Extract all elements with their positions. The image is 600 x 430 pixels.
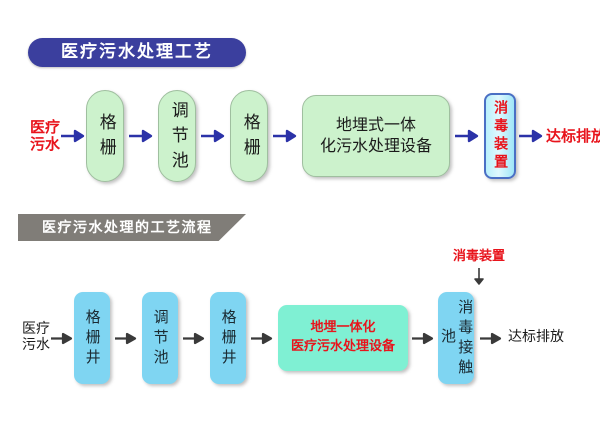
flow1-end-label-text: 达标排放 — [546, 128, 600, 145]
flow2-node-equalization-tank[interactable]: 调节池 — [142, 292, 178, 384]
flow2-node-equalization-tank-label: 调节池 — [151, 307, 168, 369]
flow1-node-disinfection-device-label: 消毒装置 — [492, 100, 508, 172]
section1-banner-title: 医疗污水处理工艺 — [61, 44, 213, 61]
flow1-node-grille-1-label: 格栅 — [95, 109, 115, 163]
section2-flow: 医疗 污水 格栅井 调节池 格栅井 地埋一体化 医疗污水处理设备 — [22, 288, 564, 388]
flow1-start-line2: 污水 — [30, 136, 60, 153]
section2-annotation-label: 消毒装置 — [453, 250, 505, 263]
flow1-node-buried-equipment-label: 地埋式一体 化污水处理设备 — [320, 115, 432, 157]
flow2-node-grille-well-1[interactable]: 格栅井 — [74, 292, 110, 384]
flow1-arrow-2 — [124, 129, 158, 143]
flow2-node-disinfection-contact-tank-label: 消毒接触池 — [439, 292, 474, 384]
flow2-node-buried-equipment[interactable]: 地埋一体化 医疗污水处理设备 — [278, 305, 408, 371]
flow2-node-grille-well-2-label: 格栅井 — [219, 307, 236, 369]
flow1-start-label: 医疗 污水 — [30, 119, 60, 153]
flow1-node-buried-equipment[interactable]: 地埋式一体 化污水处理设备 — [302, 95, 450, 177]
flow2-arrow-4 — [246, 332, 278, 345]
flow2-start-line1: 医疗 — [22, 322, 50, 338]
flow2-start-line2: 污水 — [22, 338, 50, 354]
section2-banner-title: 医疗污水处理的工艺流程 — [18, 221, 213, 235]
flow2-node-grille-well-2[interactable]: 格栅井 — [210, 292, 246, 384]
flow1-node-equalization-tank-label: 调节池 — [167, 97, 187, 176]
flow2-start-label: 医疗 污水 — [22, 322, 50, 353]
flow1-arrow-4 — [268, 129, 302, 143]
flow1-arrow-1 — [60, 129, 86, 143]
flow2-arrow-5 — [408, 332, 438, 345]
arrow-down-icon — [473, 268, 485, 290]
flow1-start-line1: 医疗 — [30, 119, 60, 136]
flow1-node-grille-1[interactable]: 格栅 — [86, 90, 124, 182]
flow1-arrow-5 — [450, 129, 484, 143]
flow2-node-grille-well-1-label: 格栅井 — [83, 307, 100, 369]
section2-annotation: 消毒装置 — [431, 250, 527, 290]
flow1-arrow-3 — [196, 129, 230, 143]
flow1-node-equalization-tank[interactable]: 调节池 — [158, 90, 196, 182]
diagram-canvas: 医疗污水处理工艺 医疗 污水 格栅 调节池 格栅 地埋式一体 化污水处 — [0, 0, 600, 430]
flow2-arrow-1 — [50, 332, 74, 345]
flow1-end-label: 达标排放 — [546, 128, 600, 145]
section1-flow: 医疗 污水 格栅 调节池 格栅 地埋式一体 化污水处理设备 — [30, 88, 600, 184]
flow1-node-grille-2-label: 格栅 — [239, 109, 259, 163]
flow2-arrow-3 — [178, 332, 210, 345]
flow2-node-disinfection-contact-tank[interactable]: 消毒接触池 — [438, 292, 474, 384]
flow2-end-label-text: 达标排放 — [508, 330, 564, 346]
flow2-end-label: 达标排放 — [508, 330, 564, 346]
flow2-node-buried-equipment-label: 地埋一体化 医疗污水处理设备 — [291, 319, 395, 357]
flow2-arrow-6 — [474, 332, 508, 345]
flow1-node-disinfection-device[interactable]: 消毒装置 — [484, 93, 516, 179]
section1-banner: 医疗污水处理工艺 — [28, 38, 246, 67]
flow1-node-grille-2[interactable]: 格栅 — [230, 90, 268, 182]
flow2-arrow-2 — [110, 332, 142, 345]
section2-banner: 医疗污水处理的工艺流程 — [18, 214, 246, 241]
flow1-arrow-6 — [516, 129, 546, 143]
